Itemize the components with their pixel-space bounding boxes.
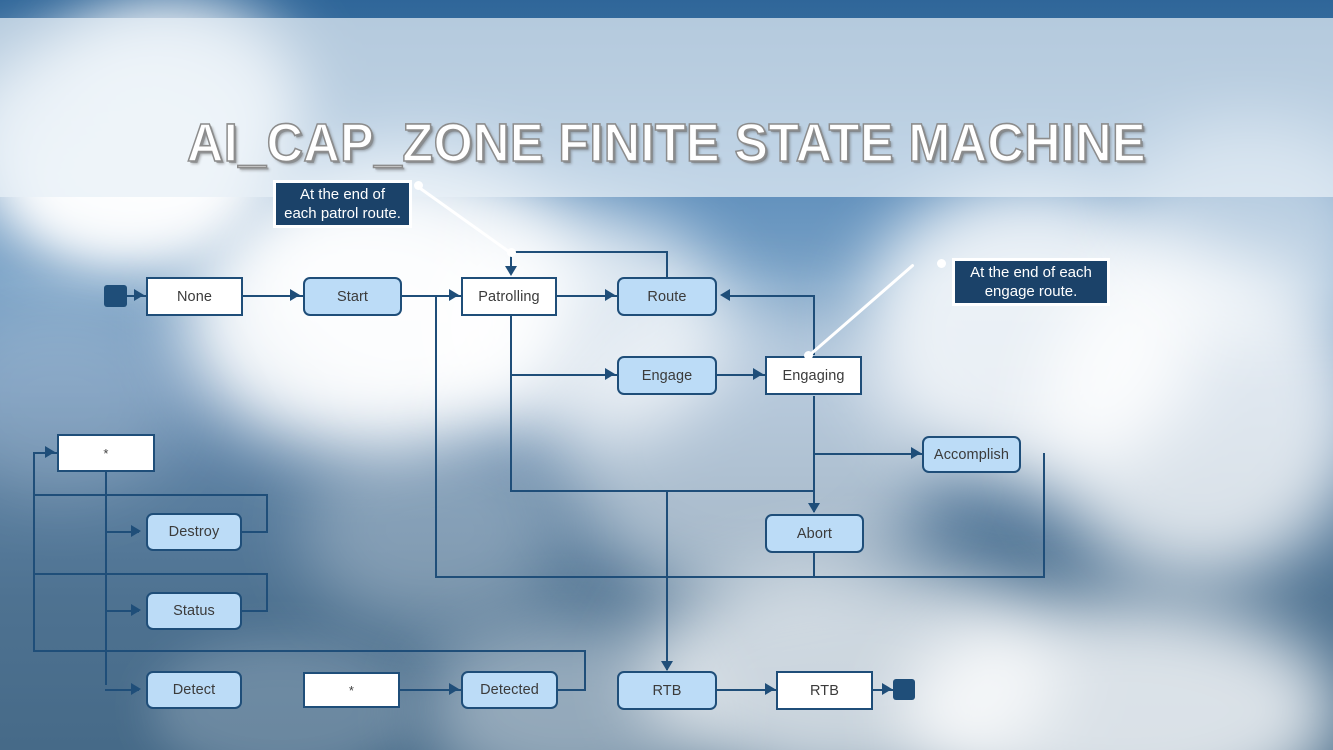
arrowhead-route-right bbox=[720, 289, 730, 301]
callout-leader-dot-end-patrol bbox=[507, 248, 516, 257]
callout-leader-dot-start-patrol bbox=[414, 181, 423, 190]
arrowhead-rtb bbox=[661, 661, 673, 671]
connector-status-return-up bbox=[266, 573, 268, 612]
connector-route-loop-across bbox=[510, 251, 668, 253]
state-node-abort[interactable]: Abort bbox=[765, 514, 864, 553]
arrowhead-none bbox=[134, 289, 144, 301]
connector-patrolling-engage bbox=[510, 374, 617, 376]
state-node-none[interactable]: None bbox=[146, 277, 243, 316]
callout-engage-text: At the end of each engage route. bbox=[963, 263, 1099, 301]
state-node-status[interactable]: Status bbox=[146, 592, 242, 630]
state-node-engaging[interactable]: Engaging bbox=[765, 356, 862, 395]
connector-abort-down bbox=[813, 553, 815, 578]
connector-engaging-up bbox=[813, 295, 815, 355]
state-node-accomplish[interactable]: Accomplish bbox=[922, 436, 1021, 473]
arrowhead-detect bbox=[131, 683, 141, 695]
connector-status-return-left bbox=[33, 573, 268, 575]
arrowhead-route bbox=[605, 289, 615, 301]
callout-engage-note: At the end of each engage route. bbox=[952, 258, 1110, 306]
connector-destroy-return-left bbox=[33, 494, 268, 496]
connector-engaging-accomplish bbox=[813, 453, 923, 455]
arrowhead-end bbox=[882, 683, 892, 695]
callout-patrol-note: At the end of each patrol route. bbox=[273, 180, 412, 228]
connector-patrolling-bottom-bus bbox=[510, 374, 512, 492]
state-node-detect[interactable]: Detect bbox=[146, 671, 242, 709]
callout-leader-dot-start-engage bbox=[937, 259, 946, 268]
connector-accomplish-bus bbox=[435, 576, 1045, 578]
state-node-destroy[interactable]: Destroy bbox=[146, 513, 242, 551]
connector-accomplish-down bbox=[1043, 453, 1045, 578]
state-node-star-bottom[interactable]: * bbox=[303, 672, 400, 708]
connector-return-bus-vertical bbox=[435, 296, 437, 578]
state-node-route[interactable]: Route bbox=[617, 277, 717, 316]
start-state-marker bbox=[104, 285, 127, 307]
state-node-start[interactable]: Start bbox=[303, 277, 402, 316]
connector-status-return-out bbox=[240, 610, 268, 612]
state-node-engage[interactable]: Engage bbox=[617, 356, 717, 395]
connector-engaging-route bbox=[727, 295, 815, 297]
arrowhead-patrolling-top bbox=[505, 266, 517, 276]
arrowhead-star-left bbox=[45, 446, 55, 458]
arrowhead-start bbox=[290, 289, 300, 301]
arrowhead-detected bbox=[449, 683, 459, 695]
state-node-rtb-blue[interactable]: RTB bbox=[617, 671, 717, 710]
connector-destroy-return-out bbox=[240, 531, 268, 533]
connector-bus-rtb bbox=[666, 490, 668, 670]
connector-detected-return-out bbox=[557, 689, 586, 691]
connector-detected-return-up bbox=[584, 650, 586, 690]
arrowhead-patrolling-left bbox=[449, 289, 459, 301]
arrowhead-status bbox=[131, 604, 141, 616]
state-node-star-left[interactable]: * bbox=[57, 434, 155, 472]
state-node-patrolling[interactable]: Patrolling bbox=[461, 277, 557, 316]
arrowhead-rtb-white bbox=[765, 683, 775, 695]
connector-detect-return-left bbox=[33, 650, 586, 652]
callout-patrol-text: At the end of each patrol route. bbox=[284, 185, 401, 223]
arrowhead-accomplish bbox=[911, 447, 921, 459]
end-state-marker bbox=[893, 679, 915, 700]
connector-left-return-rail bbox=[33, 452, 35, 652]
arrowhead-engage bbox=[605, 368, 615, 380]
connector-route-loop-up bbox=[666, 251, 668, 278]
connector-star-stem bbox=[105, 472, 107, 685]
arrowhead-engaging bbox=[753, 368, 763, 380]
page-title: AI_CAP_ZONE FINITE STATE MACHINE bbox=[47, 112, 1287, 174]
connector-bottom-bus-1 bbox=[510, 490, 815, 492]
state-node-rtb-white[interactable]: RTB bbox=[776, 671, 873, 710]
callout-leader-dot-end-engage bbox=[804, 351, 813, 360]
arrowhead-destroy bbox=[131, 525, 141, 537]
connector-patrolling-down bbox=[510, 316, 512, 375]
arrowhead-abort bbox=[808, 503, 820, 513]
presentation-slide: AI_CAP_ZONE FINITE STATE MACHINE bbox=[0, 0, 1333, 750]
connector-destroy-return-up bbox=[266, 494, 268, 533]
state-node-detected[interactable]: Detected bbox=[461, 671, 558, 709]
